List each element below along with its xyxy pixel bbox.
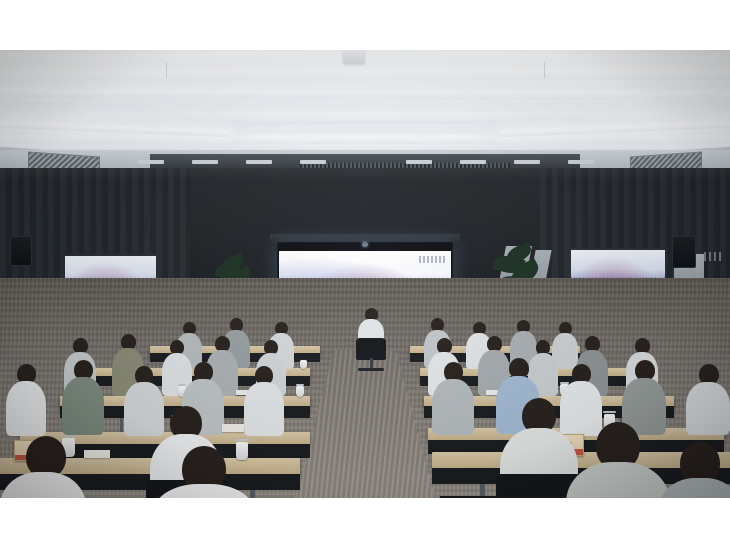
attendee-foreground <box>0 436 86 498</box>
attendee <box>686 364 730 434</box>
ceiling-sensor-box <box>343 50 365 64</box>
attendee <box>244 366 284 434</box>
ceiling-light-tube <box>0 111 730 124</box>
ceiling-drop-wire <box>166 62 167 78</box>
handout <box>84 450 110 458</box>
attendee <box>6 364 46 434</box>
office-chair <box>356 338 386 360</box>
ceiling-light-slot <box>460 160 486 164</box>
handout <box>222 424 244 432</box>
display-watermark <box>419 256 445 263</box>
attendee-foreground <box>658 442 730 498</box>
wall-speaker-left <box>10 236 32 266</box>
wall-speaker-right <box>672 236 696 268</box>
ceiling-light-slot <box>192 160 218 164</box>
paper-cup <box>296 386 304 397</box>
ceiling-light-slot <box>406 160 432 164</box>
ceiling-light-slot <box>246 160 272 164</box>
conference-camera-icon <box>362 242 368 247</box>
ceiling-band <box>0 102 730 109</box>
ceiling-light-tube <box>0 89 730 100</box>
attendee-foreground <box>152 446 256 498</box>
screenshot-root: 市委 张建华 <box>0 0 730 548</box>
ceiling-light-slot <box>300 160 326 164</box>
ceiling-light-slot <box>514 160 540 164</box>
conference-room-photograph: 市委 张建华 <box>0 50 730 498</box>
ceiling-drop-wire <box>544 62 545 78</box>
ceiling-light-tube <box>0 135 730 144</box>
ceiling-light-slot <box>568 160 594 164</box>
attendee-foreground <box>566 422 670 498</box>
ceiling-light-slot <box>138 160 164 164</box>
attendee <box>62 360 104 434</box>
attendee <box>432 362 474 434</box>
wall-sign <box>704 252 722 261</box>
paper-cup <box>300 360 307 369</box>
